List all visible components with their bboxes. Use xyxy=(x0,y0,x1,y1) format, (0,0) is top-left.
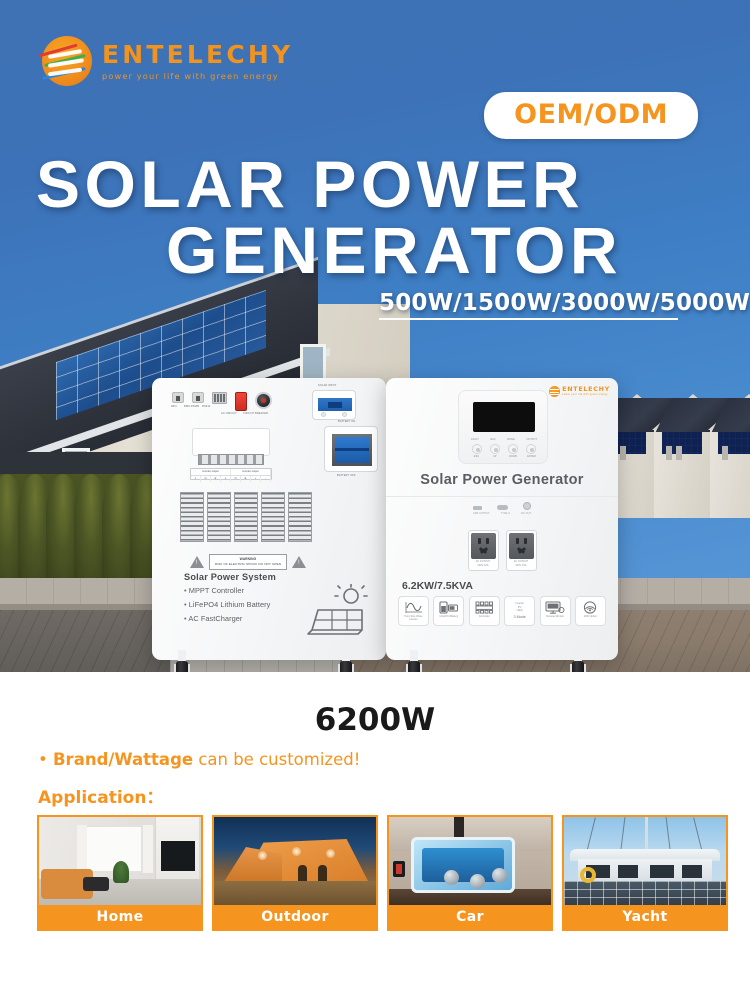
wifi-port-icon xyxy=(172,392,184,403)
lcd-button-label: ESC xyxy=(471,455,482,458)
customization-note: • Brand/Wattage can be customized! xyxy=(38,750,360,769)
brand-name: ENTELECHY xyxy=(102,42,293,67)
port-label-wifi: WIFI xyxy=(171,405,177,408)
caster-wheel xyxy=(406,650,422,672)
card-label: Yacht xyxy=(564,905,726,929)
application-card-yacht[interactable]: Yacht xyxy=(562,815,728,931)
card-image-outdoor xyxy=(214,817,376,905)
bullet-marker: • xyxy=(38,750,48,769)
usb-port-row xyxy=(386,502,618,510)
power-rating: 6.2KW/7.5KVA xyxy=(402,580,473,592)
product-name: Solar Power Generator xyxy=(386,472,618,488)
terminal-cell: + xyxy=(251,476,261,482)
usb-a-port-icon xyxy=(473,506,482,510)
feature-caption: Pure Sine Wave Inverter xyxy=(399,615,428,622)
terminal-cell: E xyxy=(241,476,251,482)
feature-wifi: WiFi Option xyxy=(575,596,606,626)
caster-wheel xyxy=(570,650,586,672)
outlet-label-line2: 230V 16A xyxy=(509,564,534,568)
warning-triangle-icon xyxy=(292,556,306,568)
lcd-status-labels: FAULT ESC MODE OUTPUT xyxy=(471,438,537,441)
feature-monitor: Remote Monitor xyxy=(540,596,571,626)
wattage-underline xyxy=(379,318,678,320)
lcd-control-panel: FAULT ESC MODE OUTPUT ESC UP DOWN ENTER xyxy=(458,390,548,464)
application-card-home[interactable]: Home xyxy=(37,815,203,931)
logo-mark-icon xyxy=(42,36,92,86)
monitor-icon xyxy=(545,601,565,614)
unit-brand-tagline: power your life with green energy xyxy=(562,394,610,396)
terminal-label-left: inverter output xyxy=(191,469,231,475)
terminal-cell: N xyxy=(201,476,211,482)
battery-icon xyxy=(439,601,459,614)
lcd-button-up[interactable]: UP xyxy=(489,444,500,458)
left-unit-feature-list: MPPT Controller LiFePO4 Lithium Battery … xyxy=(184,586,270,628)
feature-sine-wave: Pure Sine Wave Inverter xyxy=(398,596,429,626)
total-wattage: 6200W xyxy=(0,702,750,738)
oem-odm-label: OEM/ODM xyxy=(514,99,668,130)
warning-box: WARNING RISK OF ELECTRIC SHOCK DO NOT OP… xyxy=(209,554,287,570)
terminal-cell: L xyxy=(221,476,231,482)
sine-wave-icon xyxy=(405,601,423,614)
card-image-car xyxy=(389,817,551,905)
usb-port-labels: USB OUTPUT TYPE-C DC OUT xyxy=(386,512,618,515)
terminal-cell: L xyxy=(191,476,201,482)
unit-logo-mark-icon xyxy=(549,386,560,397)
warning-triangle-icon xyxy=(190,556,204,568)
application-card-outdoor[interactable]: Outdoor xyxy=(212,815,378,931)
feature-item: MPPT Controller xyxy=(184,586,270,595)
feature-battery: LiFePO4 Battery xyxy=(433,596,464,626)
hero-title-line2: GENERATOR xyxy=(166,212,622,288)
card-label: Home xyxy=(39,905,201,929)
warning-text: RISK OF ELECTRIC SHOCK DO NOT OPEN xyxy=(215,562,281,567)
rs232-switch-icon xyxy=(212,392,227,404)
customization-rest: can be customized! xyxy=(193,750,360,769)
circuit-breaker-icon xyxy=(255,392,272,409)
lcd-button-enter[interactable]: ENTER xyxy=(526,444,537,458)
lcd-label: MODE xyxy=(507,438,515,441)
feature-caption: 3 Mode xyxy=(513,615,527,620)
controller-icon xyxy=(474,601,494,614)
customization-bold: Brand/Wattage xyxy=(53,750,193,769)
terminal-label-right: inverter output xyxy=(231,469,271,475)
left-unit-port-row xyxy=(172,392,272,411)
solar-input-label: SOLAR INPUT xyxy=(318,384,336,387)
lcd-screen xyxy=(473,402,535,432)
feature-caption: Remote Monitor xyxy=(545,615,565,618)
caster-wheel xyxy=(174,650,190,672)
feature-item: LiFePO4 Lithium Battery xyxy=(184,600,270,609)
dc-output-port-icon xyxy=(523,502,531,510)
terminal-strip xyxy=(198,454,264,465)
rs485-port-icon xyxy=(192,392,204,403)
card-image-yacht xyxy=(564,817,726,905)
oem-odm-badge: OEM/ODM xyxy=(484,92,698,139)
usb-label: DC OUT xyxy=(521,512,531,515)
three-mode-sub: Inverter PV Utility xyxy=(515,602,523,613)
feature-caption: WiFi Option xyxy=(583,615,598,618)
usb-label: USB OUTPUT xyxy=(473,512,490,515)
lcd-button-down[interactable]: DOWN xyxy=(508,444,519,458)
lcd-label: ESC xyxy=(490,438,495,441)
feature-item: AC FastCharger xyxy=(184,614,270,623)
battery-off-label: BATTERY OFF xyxy=(337,474,356,477)
terminal-cell: N xyxy=(231,476,241,482)
brand-logo: ENTELECHY power your life with green ene… xyxy=(42,36,293,86)
ac-outlet: AC OUTPUT 230V 16A xyxy=(506,530,537,571)
feature-caption: Controller xyxy=(478,615,491,618)
feature-icon-row: Pure Sine Wave Inverter LiFePO4 Battery xyxy=(398,596,606,626)
card-label: Outdoor xyxy=(214,905,376,929)
card-image-home xyxy=(39,817,201,905)
application-card-car[interactable]: Car xyxy=(387,815,553,931)
lcd-button-row: ESC UP DOWN ENTER xyxy=(471,444,537,458)
feature-controller: Controller xyxy=(469,596,500,626)
port-label-breaker: CIRCUIT BREAKER xyxy=(243,412,268,415)
application-cards: Home Outdoor xyxy=(37,815,728,931)
wattage-options: 500W/1500W/3000W/5000W xyxy=(379,290,750,319)
lcd-label: FAULT xyxy=(471,438,479,441)
lcd-button-label: UP xyxy=(489,455,500,458)
warning-label-group: WARNING RISK OF ELECTRIC SHOCK DO NOT OP… xyxy=(188,554,308,570)
lcd-label: OUTPUT xyxy=(526,438,537,441)
ac-outlet: AC OUTPUT 230V 16A xyxy=(468,530,499,571)
lcd-button-label: DOWN xyxy=(508,455,519,458)
unit-brand-name: ENTELECHY xyxy=(562,386,610,392)
port-label-rs485: BMS RS485 xyxy=(184,405,199,408)
usb-label: TYPE-C xyxy=(501,512,511,515)
port-label-rs232: RS232 xyxy=(202,405,210,408)
wifi-icon xyxy=(580,601,600,614)
terminal-cell: - xyxy=(261,476,271,482)
unit-divider xyxy=(386,496,618,497)
card-label: Car xyxy=(389,905,551,929)
product-unit-left: WIFI BMS RS485 RS232 AC CIRCUIT CIRCUIT … xyxy=(152,378,386,660)
solar-panel-sun-icon xyxy=(306,584,368,638)
unit-brand-logo: ENTELECHY power your life with green ene… xyxy=(549,386,610,397)
left-unit-blank-label xyxy=(192,428,270,456)
usb-c-port-icon xyxy=(497,505,508,510)
application-heading: Application： xyxy=(38,783,163,808)
battery-on-label: BATTERY ON xyxy=(338,420,355,423)
hero-title-line1: SOLAR POWER xyxy=(36,146,584,222)
battery-switch-display xyxy=(324,426,378,472)
solar-input-display xyxy=(312,390,356,420)
outlet-label-line2: 230V 16A xyxy=(471,564,496,568)
feature-three-mode: Inverter PV Utility 3 Mode xyxy=(504,596,535,626)
hero-banner: ENTELECHY power your life with green ene… xyxy=(0,0,750,672)
pavement-near-left xyxy=(0,610,170,672)
left-unit-feature-heading: Solar Power System xyxy=(184,572,276,582)
lcd-button-esc[interactable]: ESC xyxy=(471,444,482,458)
lcd-button-label: ENTER xyxy=(526,455,537,458)
ac-outlet-row: AC OUTPUT 230V 16A AC OUTPUT 230V 16A xyxy=(386,530,618,571)
feature-caption: LiFePO4 Battery xyxy=(439,615,459,618)
terminal-cell: E xyxy=(211,476,221,482)
brand-tagline: power your life with green energy xyxy=(102,72,293,80)
ventilation-grille xyxy=(180,492,312,542)
port-label-ac-circuit: AC CIRCUIT xyxy=(221,412,237,415)
ac-circuit-switch-icon xyxy=(235,392,247,411)
caster-wheel xyxy=(338,650,354,672)
product-unit-right: ENTELECHY power your life with green ene… xyxy=(386,378,618,660)
terminal-label-block: inverter output inverter output L N E L … xyxy=(190,468,272,480)
